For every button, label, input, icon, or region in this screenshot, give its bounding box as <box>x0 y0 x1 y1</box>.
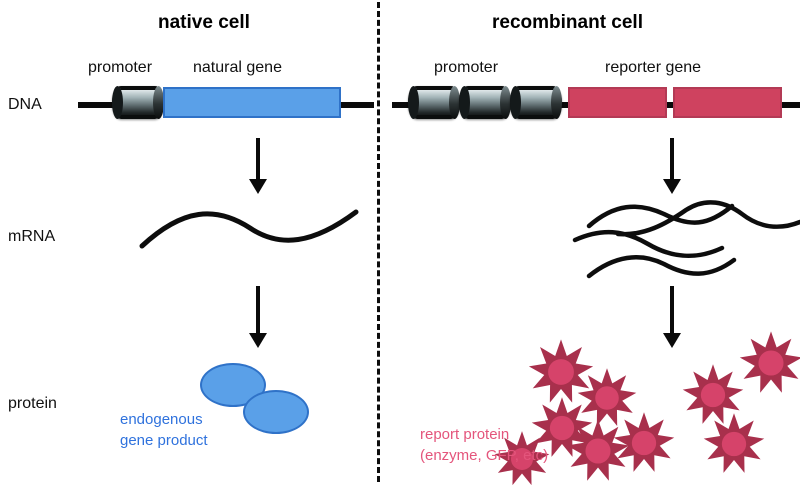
part-label-recomb-promoter: promoter <box>434 60 498 76</box>
part-label-natural-gene: natural gene <box>193 60 282 76</box>
report-protein-star-7 <box>738 330 800 396</box>
arrow-recomb-mrna-to-protein <box>662 286 682 348</box>
figure-canvas: DNA mRNA protein native cell promoter na… <box>0 0 800 484</box>
caption-report-protein-line-1: report protein <box>420 426 509 444</box>
arrow-recomb-dna-to-mrna <box>662 138 682 194</box>
row-label-dna: DNA <box>8 97 42 113</box>
report-protein-star-8 <box>702 412 766 476</box>
caption-endogenous-line-2: gene product <box>120 432 208 450</box>
promoter-box-recomb-3 <box>510 86 562 119</box>
protein-blob-2 <box>243 390 309 434</box>
promoter-box-recomb-2 <box>459 86 511 119</box>
row-label-mrna: mRNA <box>8 229 55 245</box>
gene-box-reporter-1 <box>568 87 667 118</box>
caption-endogenous-line-1: endogenous <box>120 411 203 429</box>
report-protein-star-5 <box>612 411 676 475</box>
mrna-strand-recomb-4 <box>586 246 800 286</box>
panel-title-native: native cell <box>158 13 250 32</box>
panel-divider <box>377 2 380 482</box>
row-label-protein: protein <box>8 396 57 412</box>
caption-report-protein-line-2: (enzyme, GFP, etc) <box>420 447 548 465</box>
gene-box-reporter-2 <box>673 87 782 118</box>
mrna-strand-native-1 <box>138 198 363 258</box>
promoter-box-recomb-1 <box>408 86 460 119</box>
part-label-reporter-gene: reporter gene <box>605 60 701 76</box>
arrow-native-dna-to-mrna <box>248 138 268 194</box>
dna-backbone-native-right <box>338 102 374 108</box>
part-label-native-promoter: promoter <box>88 60 152 76</box>
gene-box-natural <box>163 87 341 118</box>
arrow-native-mrna-to-protein <box>248 286 268 348</box>
promoter-box-native-1 <box>112 86 164 119</box>
dna-backbone-recomb-right <box>779 102 800 108</box>
panel-title-recombinant: recombinant cell <box>492 13 643 32</box>
